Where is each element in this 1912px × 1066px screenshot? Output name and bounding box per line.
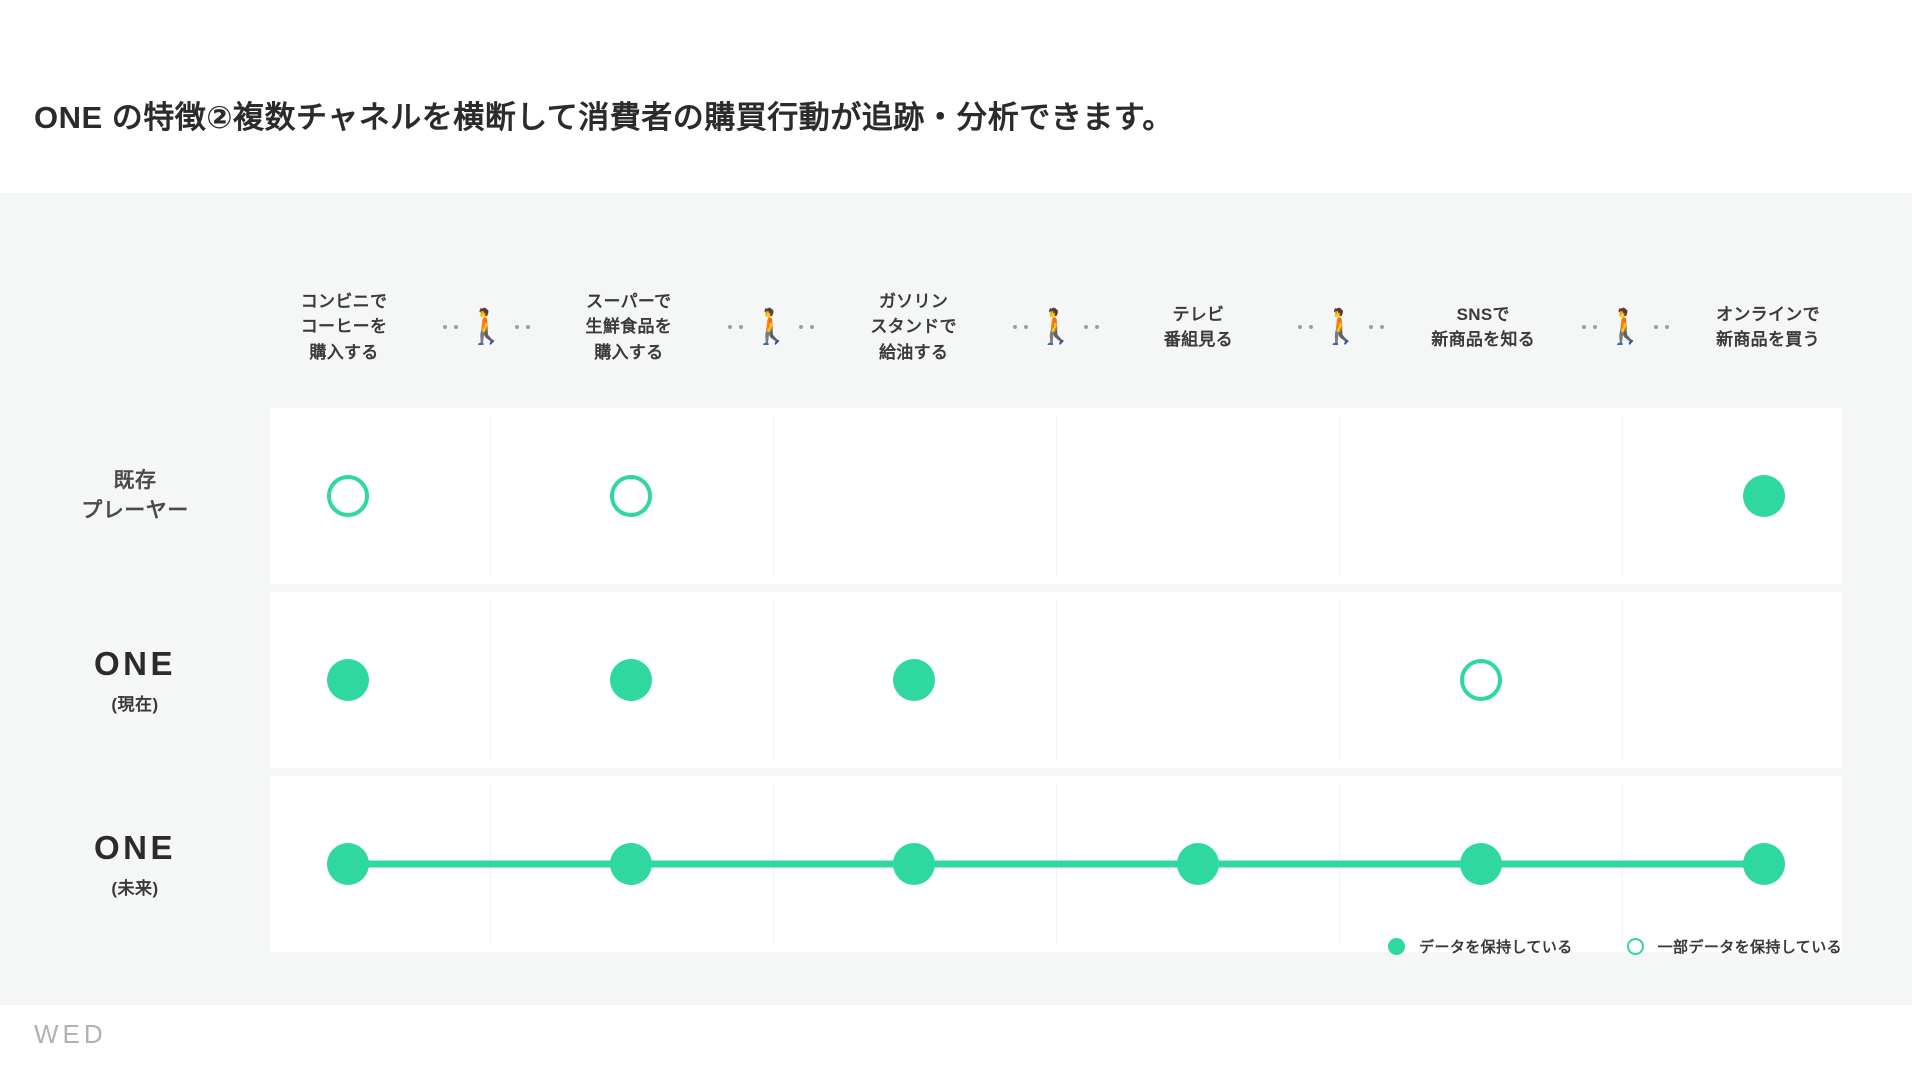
- dotted-separator-dot: [1095, 325, 1099, 329]
- journey-step-label-line: スーパーで: [555, 289, 703, 314]
- dotted-separator-dot: [1665, 325, 1669, 329]
- journey-step-label-line: コーヒーを: [270, 314, 418, 339]
- dotted-separator-dot: [1380, 325, 1384, 329]
- dotted-separator-dot: [1024, 325, 1028, 329]
- hollow-circle-icon: [1460, 659, 1502, 701]
- filled-circle-icon: [1460, 843, 1502, 885]
- journey-step-label-line: オンラインで: [1694, 302, 1842, 327]
- dotted-separator-dot: [526, 325, 530, 329]
- journey-connector-1: 🚶: [418, 310, 555, 344]
- data-marker-r2-c3[interactable]: [864, 630, 964, 730]
- row-label-brand: ONE: [94, 829, 176, 867]
- journey-connection-line: [348, 861, 1764, 868]
- marker-track-2: [270, 592, 1842, 768]
- row-label-brand: ONE: [94, 645, 176, 683]
- journey-step-5: SNSで新商品を知る: [1409, 302, 1557, 352]
- dotted-separator-dot: [810, 325, 814, 329]
- walking-person-icon: 🚶: [465, 310, 507, 344]
- page-title: ONE の特徴②複数チャネルを横断して消費者の購買行動が追跡・分析できます。: [34, 92, 1174, 137]
- journey-connector-5: 🚶: [1557, 310, 1694, 344]
- journey-step-label-line: テレビ: [1124, 302, 1272, 327]
- comparison-row-3: ONE(未来): [0, 776, 1912, 952]
- journey-step-2: スーパーで生鮮食品を購入する: [555, 289, 703, 364]
- journey-step-label-line: 番組見る: [1124, 327, 1272, 352]
- row-label-text-line: プレーヤー: [81, 496, 189, 526]
- dotted-separator-dot: [1309, 325, 1313, 329]
- data-marker-r1-c6[interactable]: [1714, 446, 1814, 546]
- legend-label: 一部データを保持している: [1658, 936, 1842, 957]
- journey-step-6: オンラインで新商品を買う: [1694, 302, 1842, 352]
- comparison-row-1: 既存プレーヤー: [0, 408, 1912, 584]
- journey-step-label-line: コンビニで: [270, 289, 418, 314]
- dotted-separator-dot: [799, 325, 803, 329]
- data-marker-r1-c1[interactable]: [298, 446, 398, 546]
- dotted-separator-dot: [454, 325, 458, 329]
- legend: データを保持している一部データを保持している: [1388, 936, 1842, 957]
- journey-step-label-line: ガソリン: [840, 289, 988, 314]
- journey-step-label-line: 生鮮食品を: [555, 314, 703, 339]
- data-marker-r2-c5[interactable]: [1431, 630, 1531, 730]
- data-marker-r1-c2[interactable]: [581, 446, 681, 546]
- filled-circle-icon: [1177, 843, 1219, 885]
- data-marker-r3-c1[interactable]: [298, 814, 398, 914]
- row-label-1: 既存プレーヤー: [0, 408, 270, 584]
- journey-connector-3: 🚶: [988, 310, 1125, 344]
- hollow-circle-icon: [1627, 938, 1644, 955]
- journey-step-label-line: SNSで: [1409, 302, 1557, 327]
- marker-track-1: [270, 408, 1842, 584]
- journey-step-4: テレビ番組見る: [1124, 302, 1272, 352]
- hollow-circle-icon: [610, 475, 652, 517]
- data-marker-r3-c6[interactable]: [1714, 814, 1814, 914]
- journey-connector-2: 🚶: [703, 310, 840, 344]
- marker-track-3: [270, 776, 1842, 952]
- journey-step-label-line: 新商品を知る: [1409, 327, 1557, 352]
- journey-step-label-line: 購入する: [555, 340, 703, 365]
- dotted-separator-dot: [1084, 325, 1088, 329]
- dotted-separator-dot: [1013, 325, 1017, 329]
- journey-step-label-line: 新商品を買う: [1694, 327, 1842, 352]
- journey-step-label-line: 給油する: [840, 340, 988, 365]
- journey-step-label-line: 購入する: [270, 340, 418, 365]
- data-marker-r2-c2[interactable]: [581, 630, 681, 730]
- footer-bar: [0, 1005, 1912, 1066]
- legend-item-1: データを保持している: [1388, 936, 1573, 957]
- filled-circle-icon: [610, 843, 652, 885]
- filled-circle-icon: [893, 659, 935, 701]
- data-marker-r2-c1[interactable]: [298, 630, 398, 730]
- dotted-separator-dot: [1593, 325, 1597, 329]
- filled-circle-icon: [1743, 475, 1785, 517]
- walking-person-icon: 🚶: [1035, 310, 1077, 344]
- dotted-separator-dot: [1582, 325, 1586, 329]
- row-label-2: ONE(現在): [0, 592, 270, 768]
- comparison-rows: 既存プレーヤーONE(現在)ONE(未来): [0, 408, 1912, 960]
- journey-step-1: コンビニでコーヒーを購入する: [270, 289, 418, 364]
- journey-connector-4: 🚶: [1272, 310, 1409, 344]
- wed-logo: WED: [34, 1019, 107, 1050]
- journey-header: コンビニでコーヒーを購入する🚶スーパーで生鮮食品を購入する🚶ガソリンスタンドで給…: [270, 272, 1842, 382]
- filled-circle-icon: [1388, 938, 1405, 955]
- row-label-sublabel: (未来): [111, 874, 158, 899]
- dotted-separator-dot: [739, 325, 743, 329]
- data-marker-r3-c5[interactable]: [1431, 814, 1531, 914]
- legend-label: データを保持している: [1419, 936, 1573, 957]
- filled-circle-icon: [327, 843, 369, 885]
- filled-circle-icon: [893, 843, 935, 885]
- filled-circle-icon: [610, 659, 652, 701]
- journey-step-label-line: スタンドで: [840, 314, 988, 339]
- row-label-sublabel: (現在): [111, 690, 158, 715]
- data-marker-r3-c2[interactable]: [581, 814, 681, 914]
- filled-circle-icon: [1743, 843, 1785, 885]
- dotted-separator-dot: [443, 325, 447, 329]
- comparison-row-2: ONE(現在): [0, 592, 1912, 768]
- dotted-separator-dot: [1369, 325, 1373, 329]
- walking-person-icon: 🚶: [1320, 310, 1362, 344]
- data-marker-r3-c3[interactable]: [864, 814, 964, 914]
- journey-step-3: ガソリンスタンドで給油する: [840, 289, 988, 364]
- dotted-separator-dot: [515, 325, 519, 329]
- row-label-3: ONE(未来): [0, 776, 270, 952]
- dotted-separator-dot: [1298, 325, 1302, 329]
- row-label-text-line: 既存: [114, 466, 157, 496]
- filled-circle-icon: [327, 659, 369, 701]
- walking-person-icon: 🚶: [750, 310, 792, 344]
- dotted-separator-dot: [728, 325, 732, 329]
- legend-item-2: 一部データを保持している: [1627, 936, 1842, 957]
- hollow-circle-icon: [327, 475, 369, 517]
- dotted-separator-dot: [1654, 325, 1658, 329]
- data-marker-r3-c4[interactable]: [1148, 814, 1248, 914]
- walking-person-icon: 🚶: [1604, 310, 1646, 344]
